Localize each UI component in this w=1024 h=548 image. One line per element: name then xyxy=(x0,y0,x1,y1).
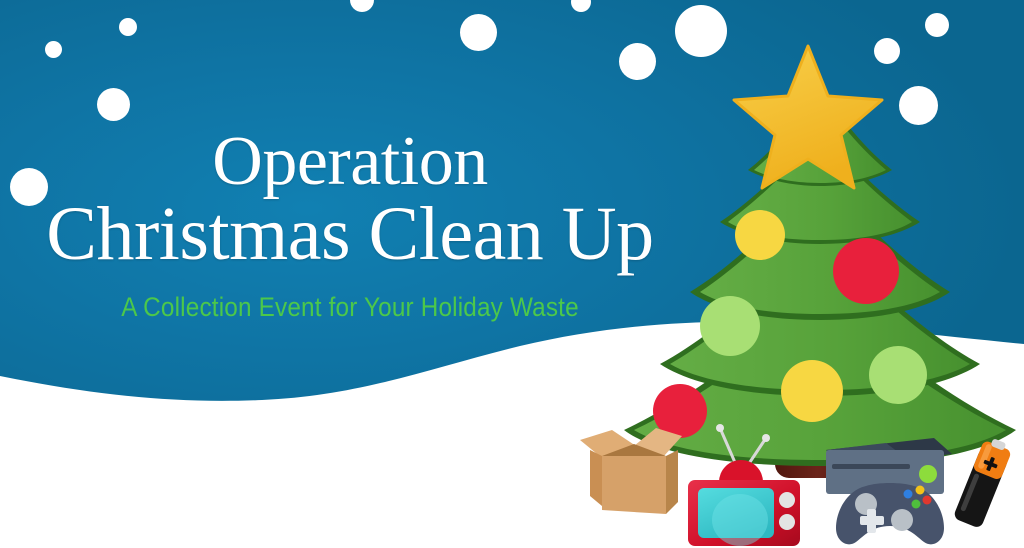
headline-line-1: Operation xyxy=(0,128,700,197)
console-disc-slot xyxy=(832,464,910,469)
tv-knob-bottom xyxy=(779,514,795,530)
ornament-yellow-upper xyxy=(735,210,785,260)
cardboard-box-icon xyxy=(578,414,690,518)
box-front xyxy=(602,456,666,514)
retro-tv-icon xyxy=(684,424,804,548)
battery-icon xyxy=(944,436,1018,534)
tv-knob-top xyxy=(779,492,795,508)
snow-dot xyxy=(97,88,130,121)
game-controller-icon xyxy=(832,480,948,548)
controller-stick-right xyxy=(891,509,913,531)
snow-dot xyxy=(45,41,62,58)
controller-body xyxy=(836,483,944,544)
snow-dot xyxy=(925,13,949,37)
page-title: Operation Christmas Clean Up xyxy=(0,128,700,271)
controller-button-blue xyxy=(904,490,913,499)
controller-button-yellow xyxy=(916,486,925,495)
controller-button-green xyxy=(912,500,921,509)
ornament-yellow-lower xyxy=(781,360,843,422)
snow-dot xyxy=(119,18,137,36)
ornament-lightgreen-right xyxy=(869,346,927,404)
headline-line-2: Christmas Clean Up xyxy=(0,197,700,271)
controller-button-red xyxy=(923,496,932,505)
page-subtitle: A Collection Event for Your Holiday Wast… xyxy=(35,292,665,323)
ornament-red-upper xyxy=(833,238,899,304)
box-side-right xyxy=(666,450,678,514)
box-side-left xyxy=(590,450,602,506)
snow-dot xyxy=(460,14,497,51)
holiday-event-banner: Operation Christmas Clean Up A Collectio… xyxy=(0,0,1024,548)
ornament-lightgreen-left xyxy=(700,296,760,356)
